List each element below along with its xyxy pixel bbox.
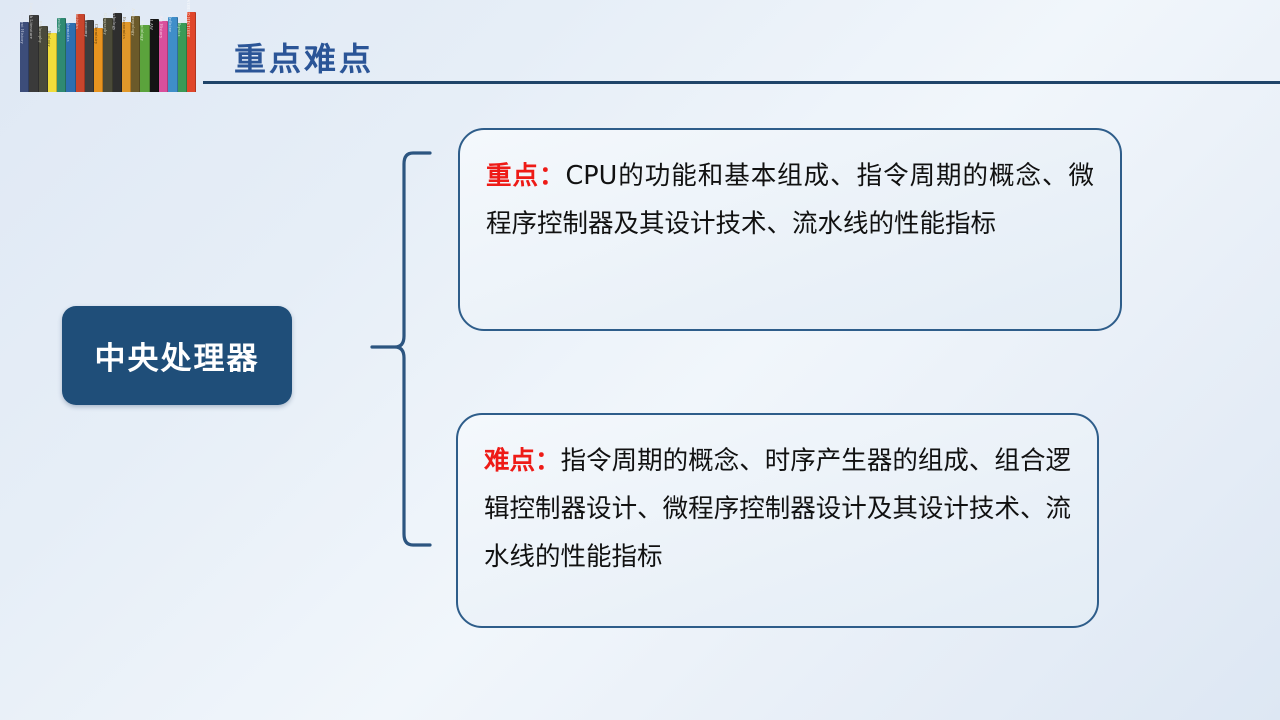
- branch-text-hard-points: 难点：指令周期的概念、时序产生器的组成、组合逻辑控制器设计、微程序控制器设计及其…: [484, 437, 1071, 581]
- book-spine-label: Economics: [122, 18, 127, 40]
- book-spine: Ancient History: [20, 22, 29, 92]
- book-spine-label: Astronomy: [84, 15, 89, 37]
- curly-brace-connector: [368, 140, 438, 560]
- branch-separator-key-points: ：: [539, 161, 565, 191]
- book-spine: Art History: [159, 21, 168, 92]
- book-spine-label: Geography: [103, 13, 108, 35]
- book-spine: Chemistry: [94, 28, 103, 92]
- book-spine-label: Statistics: [75, 11, 80, 29]
- book-spine: Biology: [48, 33, 57, 92]
- book-spine-label: Art History: [159, 15, 164, 38]
- book-spine: Psychology: [113, 13, 122, 92]
- book-spine-label: Chemistry: [94, 24, 99, 45]
- curly-brace-icon: [368, 140, 438, 560]
- book-spine: Mathematics: [66, 23, 75, 92]
- book-spine: Economics: [122, 22, 131, 92]
- book-spine-label: Psychology: [112, 7, 117, 30]
- book-spine-label: Geology: [57, 16, 62, 33]
- book-spine-label: LAW: [149, 20, 154, 31]
- root-node-label: 中央处理器: [95, 333, 260, 378]
- page-title: 重点难点: [234, 34, 374, 80]
- title-underline-rule: [203, 81, 1280, 84]
- book-spine: LAW: [150, 19, 159, 92]
- book-shelf: Ancient HistoryEnglish LiteraturePhiloso…: [20, 12, 196, 92]
- book-spine-label: Sociology: [140, 21, 145, 41]
- book-spine-label: Biology: [47, 31, 52, 47]
- branch-text-key-points: 重点：CPU的功能和基本组成、指令周期的概念、微程序控制器及其设计技术、流水线的…: [486, 152, 1094, 248]
- books-image: Ancient HistoryEnglish LiteraturePhiloso…: [20, 12, 196, 92]
- slide-canvas: Ancient HistoryEnglish LiteraturePhiloso…: [0, 0, 1280, 720]
- book-spine: Geology: [57, 18, 66, 92]
- book-spine: WORLD HISTORY: [187, 12, 196, 92]
- book-spine-label: Anthropology: [131, 8, 136, 36]
- root-node-central-processor[interactable]: 中央处理器: [62, 306, 292, 405]
- book-spine-label: Mathematics: [66, 16, 71, 41]
- book-spine-label: WORLD HISTORY: [186, 0, 191, 38]
- book-spine-label: Medicine: [168, 14, 173, 33]
- branch-tag-key-points: 重点: [486, 161, 539, 191]
- branch-separator-hard-points: ：: [535, 446, 561, 476]
- book-spine-label: Ancient History: [20, 12, 25, 44]
- slide-header: Ancient HistoryEnglish LiteraturePhiloso…: [0, 0, 1280, 100]
- branch-body-hard-points: 指令周期的概念、时序产生器的组成、组合逻辑控制器设计、微程序控制器设计及其设计技…: [484, 446, 1071, 572]
- book-spine-label: English Literature: [29, 3, 34, 39]
- branch-box-hard-points[interactable]: 难点：指令周期的概念、时序产生器的组成、组合逻辑控制器设计、微程序控制器设计及其…: [456, 413, 1099, 628]
- book-spine: Astronomy: [85, 20, 94, 92]
- book-spine: Sociology: [140, 25, 149, 92]
- branch-body-key-points: CPU的功能和基本组成、指令周期的概念、微程序控制器及其设计技术、流水线的性能指…: [486, 161, 1094, 239]
- book-spine-label: Physics: [177, 22, 182, 37]
- branch-box-key-points[interactable]: 重点：CPU的功能和基本组成、指令周期的概念、微程序控制器及其设计技术、流水线的…: [458, 128, 1122, 331]
- book-spine-label: Philosophy: [38, 21, 43, 43]
- branch-tag-hard-points: 难点: [484, 446, 535, 476]
